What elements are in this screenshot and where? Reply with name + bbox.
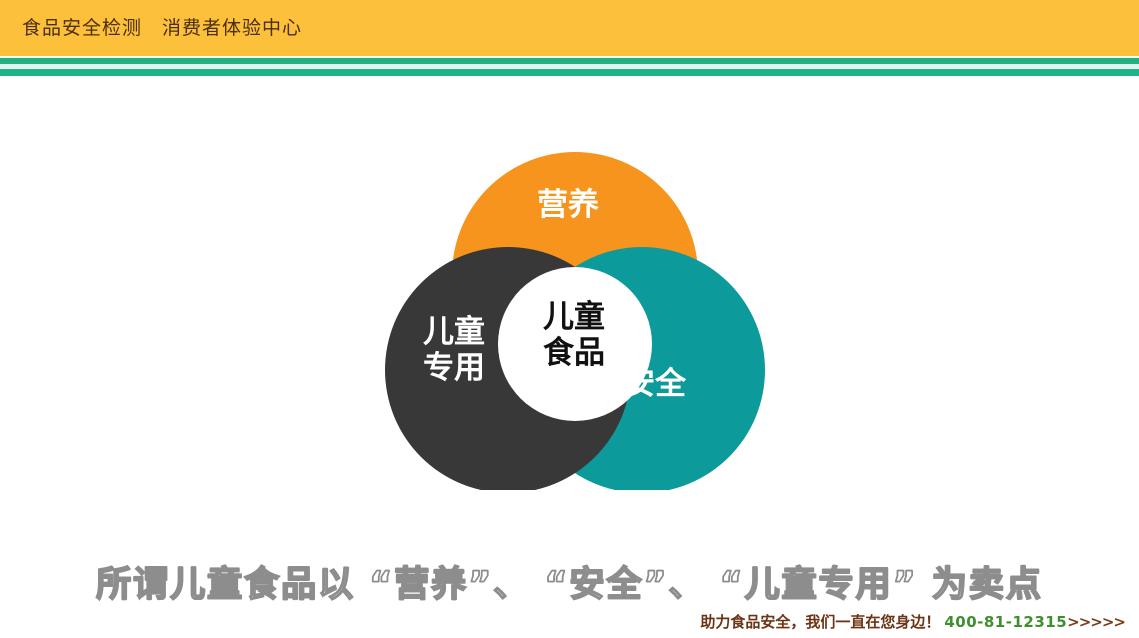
footer-bar: 助力食品安全，我们一直在您身边！400-81-12315>>>>> xyxy=(700,611,1125,632)
footer-arrows-icon: >>>>> xyxy=(1067,613,1125,631)
page-title: 食品安全检测 消费者体验中心 xyxy=(22,0,302,56)
footer-message: 助力食品安全，我们一直在您身边！ xyxy=(700,613,940,631)
header-stripe-bottom xyxy=(0,69,1139,76)
footer-phone-number[interactable]: 400-81-12315 xyxy=(944,613,1067,631)
venn-circle-center[interactable] xyxy=(498,267,652,421)
slide-canvas: 食品安全检测 消费者体验中心 营养 安全 儿童 专用 儿童 食品 所谓儿童食品以… xyxy=(0,0,1139,638)
venn-shapes xyxy=(385,145,765,490)
tagline-text: 所谓儿童食品以 “营养”、 “安全”、 “儿童专用” 为卖点 xyxy=(0,556,1139,607)
venn-diagram: 营养 安全 儿童 专用 儿童 食品 xyxy=(385,145,765,490)
